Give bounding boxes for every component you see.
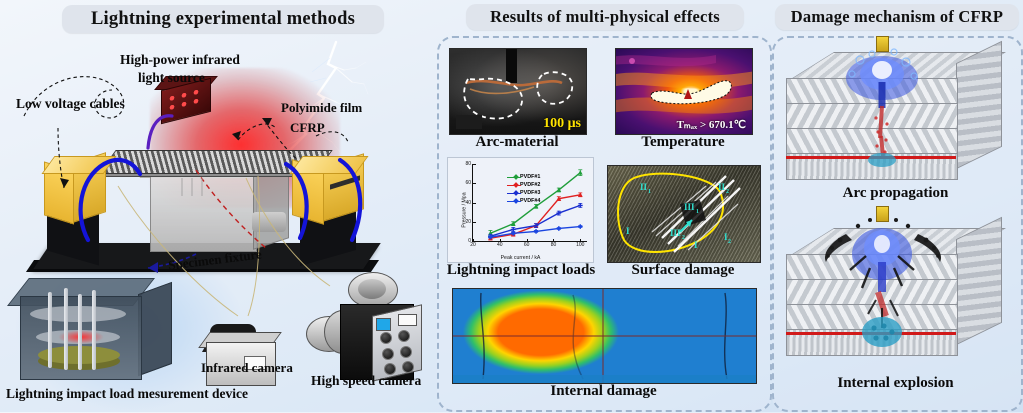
hs-camera-knob-1 [380, 332, 392, 344]
device-rod-3 [78, 294, 82, 370]
legend-item-1: PVDF#2 [507, 181, 540, 189]
device-rod-1 [48, 292, 52, 368]
hs-camera-knob-4 [400, 346, 412, 358]
chart-legend: PVDF#1 PVDF#2 PVDF#3 PVDF#4 [507, 173, 540, 205]
chart-marker [578, 170, 583, 175]
svg-text:I: I [626, 226, 630, 236]
arc-propagation-overlay [786, 26, 1000, 196]
legend-label-1: PVDF#2 [520, 181, 540, 189]
surface-damage-image: II1 II2 III1 III2 I I I2 [607, 165, 761, 263]
chart-y-tick: 80 [465, 161, 471, 167]
chart-x-tick: 20 [470, 242, 476, 248]
arc-material-image: 100 μs [449, 48, 587, 135]
label-cfrp: CFRP [290, 120, 325, 136]
device-side-face [138, 282, 172, 376]
experimental-setup-illustration [0, 28, 436, 412]
chart-x-tickmark [527, 239, 528, 242]
label-ir-source-line2: light source [138, 70, 205, 86]
chart-y-tickmark [473, 222, 476, 223]
svg-text:II: II [640, 182, 648, 192]
legend-item-0: PVDF#1 [507, 173, 540, 181]
figure-canvas: Lightning experimental methods Results o… [0, 0, 1023, 412]
hs-camera-display [398, 314, 417, 326]
panel-title-middle: Results of multi-physical effects [466, 4, 744, 30]
chart-marker [556, 226, 561, 231]
hs-camera-blue-button [376, 318, 391, 331]
legend-label-2: PVDF#3 [520, 189, 540, 197]
internal-damage-cscan-image [452, 288, 757, 384]
svg-text:1: 1 [696, 209, 699, 215]
infrared-camera-illustration [200, 324, 282, 386]
label-polyimide-film: Polyimide film [281, 100, 362, 116]
label-low-voltage-cables: Low voltage cables [16, 96, 125, 112]
svg-text:I: I [694, 240, 698, 250]
caption-internal-explosion: Internal explosion [772, 375, 1019, 392]
chart-x-tickmark [580, 239, 581, 242]
svg-text:1: 1 [648, 189, 651, 195]
arc-propagation-laminate [786, 52, 1000, 190]
svg-text:2: 2 [726, 189, 729, 195]
label-high-speed-camera: High speed camera [311, 373, 421, 389]
electrode-plug-1 [876, 36, 889, 52]
chart-x-tickmark [553, 239, 554, 242]
chart-marker [578, 224, 583, 229]
svg-text:III: III [684, 202, 695, 212]
arc-image-timestamp: 100 μs [543, 116, 581, 132]
chart-x-axis-label: Peak current / kA [501, 255, 541, 261]
lightning-impact-load-measurement-device [14, 268, 174, 390]
chart-y-tickmark [473, 164, 476, 165]
label-load-measurement-device: Lightning impact load mesurement device [6, 386, 248, 402]
label-infrared-camera: Infrared camera [201, 360, 293, 376]
lightning-impact-loads-chart: PVDF#1 PVDF#2 PVDF#3 PVDF#4 020406080 20… [447, 157, 594, 263]
chart-x-tickmark [473, 239, 474, 242]
hs-camera-knob-2 [398, 330, 410, 342]
svg-text:III: III [670, 228, 681, 238]
caption-lightning-impact-loads: Lightning impact loads [436, 262, 606, 279]
temperature-thermal-image: Tₘₐₓ > 670.1℃ [615, 48, 753, 135]
legend-label-3: PVDF#4 [520, 197, 540, 205]
chart-x-tickmark [500, 239, 501, 242]
internal-explosion-overlay [786, 196, 1000, 376]
caption-temperature: Temperature [615, 134, 751, 151]
temperature-max-label: Tₘₐₓ > 670.1℃ [677, 118, 746, 131]
caption-surface-damage: Surface damage [603, 262, 763, 279]
electrode-plug-2 [876, 206, 889, 222]
label-ir-source-line1: High-power infrared [120, 52, 240, 68]
svg-text:2: 2 [728, 239, 731, 245]
chart-x-tick: 40 [497, 242, 503, 248]
chart-y-tickmark [473, 183, 476, 184]
hs-camera-knob-6 [402, 361, 414, 373]
chart-x-tick: 60 [524, 242, 530, 248]
chart-y-axis-label: Pressure / Mpa [462, 192, 468, 227]
chart-y-tickmark [473, 203, 476, 204]
legend-label-0: PVDF#1 [520, 173, 540, 181]
internal-explosion-laminate [786, 228, 1000, 366]
hs-camera-knob-3 [382, 348, 394, 360]
legend-item-2: PVDF#3 [507, 189, 540, 197]
svg-text:2: 2 [682, 235, 685, 241]
chart-plot-area: PVDF#1 PVDF#2 PVDF#3 PVDF#4 020406080 20… [472, 164, 587, 242]
legend-item-3: PVDF#4 [507, 197, 540, 205]
caption-internal-damage: Internal damage [452, 383, 755, 400]
device-rod-4 [92, 290, 96, 370]
device-rod-2 [64, 288, 68, 370]
chart-x-tick: 80 [551, 242, 557, 248]
hs-camera-top-lens-inner [358, 279, 386, 299]
chart-x-tick: 100 [576, 242, 584, 248]
caption-arc-material: Arc-material [449, 134, 585, 151]
svg-text:II: II [718, 182, 726, 192]
chart-marker [534, 229, 539, 234]
chart-y-tick: 60 [465, 180, 471, 186]
